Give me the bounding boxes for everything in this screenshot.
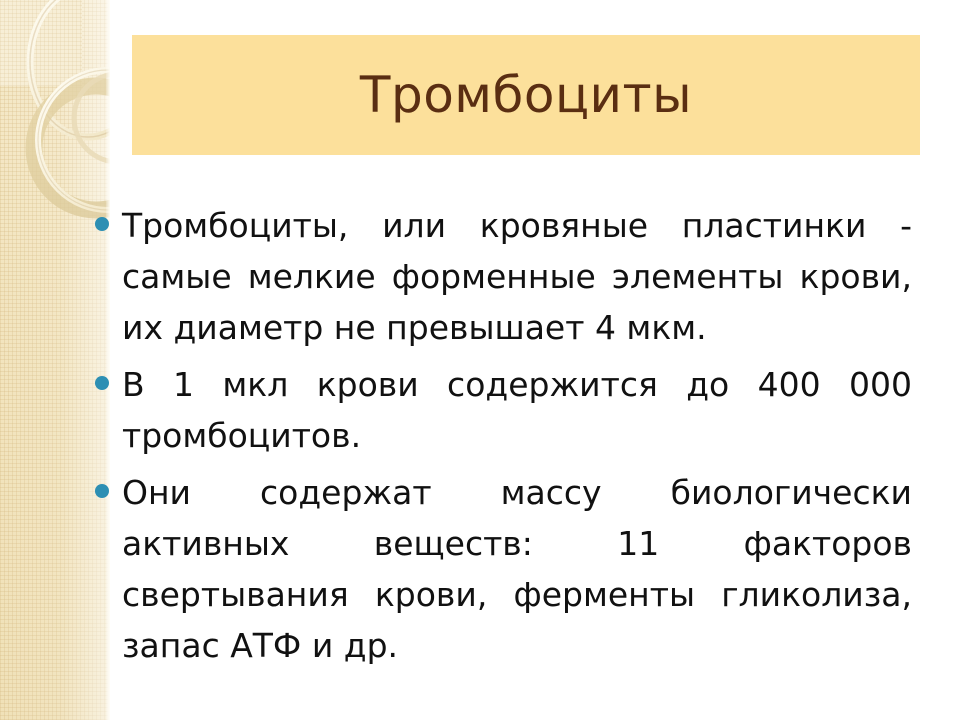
- bullet-item: Тромбоциты, или кровяные пластинки - сам…: [122, 200, 912, 353]
- bullet-text: Тромбоциты, или кровяные пластинки - сам…: [122, 200, 912, 353]
- slide-title-band: Тромбоциты: [132, 35, 920, 155]
- presentation-slide: Тромбоциты Тромбоциты, или кровяные плас…: [0, 0, 960, 720]
- bullet-marker-icon: [95, 484, 109, 498]
- bullet-item: Они содержат массу биологически активных…: [122, 467, 912, 671]
- sidebar-ring-decoration-icon: [0, 0, 110, 330]
- bullet-marker-icon: [95, 376, 109, 390]
- bullet-marker-icon: [95, 217, 109, 231]
- bullet-text: В 1 мкл крови содержится до 400 000 тром…: [122, 359, 912, 461]
- slide-title: Тромбоциты: [360, 70, 692, 120]
- bullet-item: В 1 мкл крови содержится до 400 000 тром…: [122, 359, 912, 461]
- decorative-sidebar: [0, 0, 110, 720]
- slide-body: Тромбоциты, или кровяные пластинки - сам…: [122, 200, 912, 677]
- bullet-text: Они содержат массу биологически активных…: [122, 467, 912, 671]
- sidebar-edge-highlight: [106, 0, 110, 720]
